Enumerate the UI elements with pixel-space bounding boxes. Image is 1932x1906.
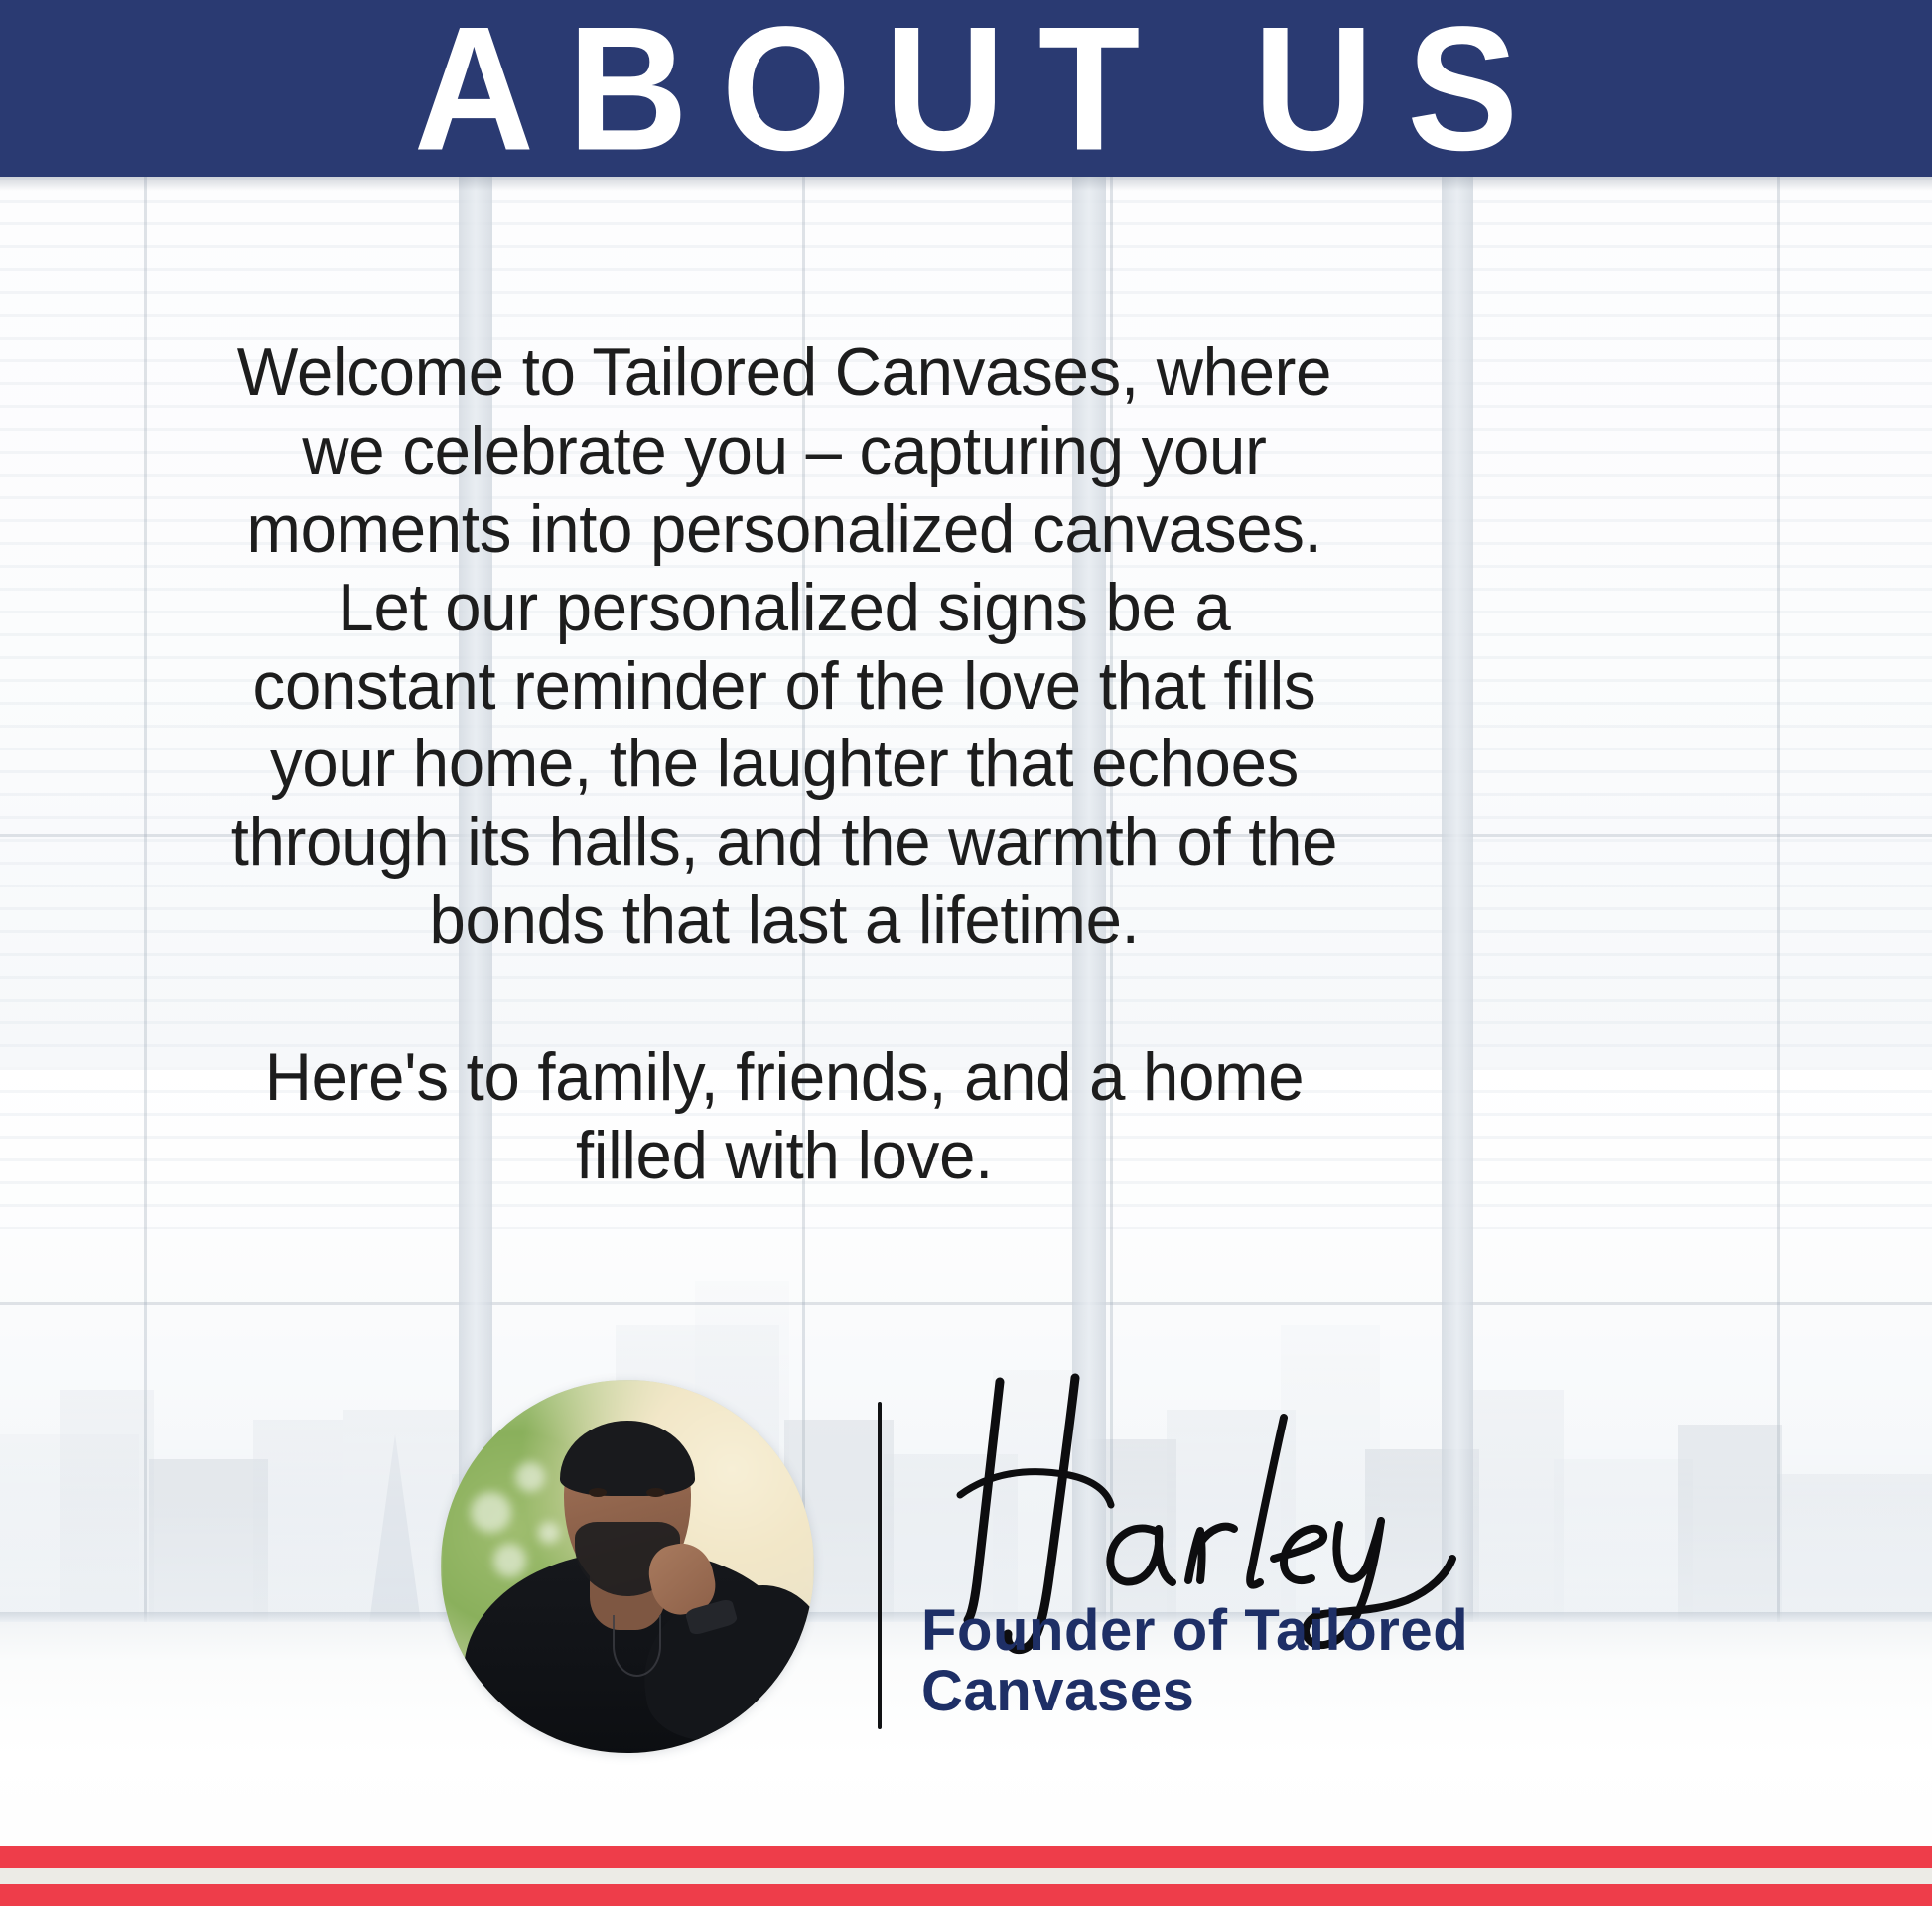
page-title: ABOUT US bbox=[380, 0, 1552, 177]
founder-role-line1: Founder of Tailored bbox=[921, 1598, 1468, 1663]
about-us-poster: ABOUT US Welcome to Tailored Canvases, w… bbox=[0, 0, 1932, 1906]
avatar-eye-right bbox=[646, 1488, 665, 1497]
accent-stripe-gap bbox=[0, 1868, 1932, 1884]
header-band: ABOUT US bbox=[0, 0, 1932, 177]
window-transom-rail bbox=[0, 1302, 1932, 1305]
avatar-necklace bbox=[613, 1615, 661, 1677]
accent-stripe-bottom bbox=[0, 1884, 1932, 1906]
founder-role-line2: Canvases bbox=[921, 1661, 1557, 1721]
founder-role: Founder of Tailored Canvases bbox=[921, 1600, 1557, 1722]
vertical-divider bbox=[878, 1402, 882, 1729]
founder-footer: Founder of Tailored Canvases bbox=[0, 1380, 1932, 1777]
accent-stripe-top bbox=[0, 1846, 1932, 1868]
paragraph-1: Welcome to Tailored Canvases, where we c… bbox=[212, 334, 1356, 960]
avatar bbox=[441, 1380, 814, 1753]
paragraph-2: Here's to family, friends, and a home fi… bbox=[212, 1038, 1356, 1195]
about-body-copy: Welcome to Tailored Canvases, where we c… bbox=[212, 334, 1356, 1195]
